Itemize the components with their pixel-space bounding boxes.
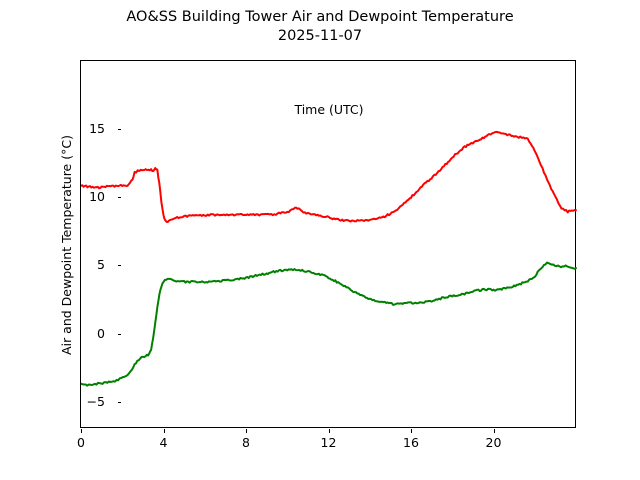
plot-axes: −5051015 048121620 Air and Dewpoint Temp…	[80, 60, 576, 428]
x-tick-label: 12	[309, 435, 349, 450]
x-axis-ticks: 048121620	[81, 429, 577, 455]
x-tick-mark	[164, 429, 165, 433]
x-tick-mark	[81, 429, 82, 433]
chart-title: AO&SS Building Tower Air and Dewpoint Te…	[0, 8, 640, 46]
x-tick-label: 20	[474, 435, 514, 450]
y-axis-label: Air and Dewpoint Temperature (°C)	[59, 61, 77, 429]
x-tick-label: 16	[391, 435, 431, 450]
y-tick-mark	[118, 265, 122, 266]
x-tick-mark	[246, 429, 247, 433]
dewpoint-temperature-line	[81, 263, 576, 386]
figure: AO&SS Building Tower Air and Dewpoint Te…	[0, 0, 640, 480]
x-tick-mark	[494, 429, 495, 433]
air-temperature-line	[81, 132, 576, 222]
x-tick-mark	[329, 429, 330, 433]
x-axis-label: Time (UTC)	[81, 102, 577, 117]
x-tick-label: 4	[144, 435, 184, 450]
y-tick-mark	[118, 402, 122, 403]
y-tick-mark	[118, 197, 122, 198]
x-tick-mark	[411, 429, 412, 433]
x-tick-label: 8	[226, 435, 266, 450]
y-tick-mark	[118, 129, 122, 130]
x-tick-label: 0	[61, 435, 101, 450]
y-tick-mark	[118, 334, 122, 335]
